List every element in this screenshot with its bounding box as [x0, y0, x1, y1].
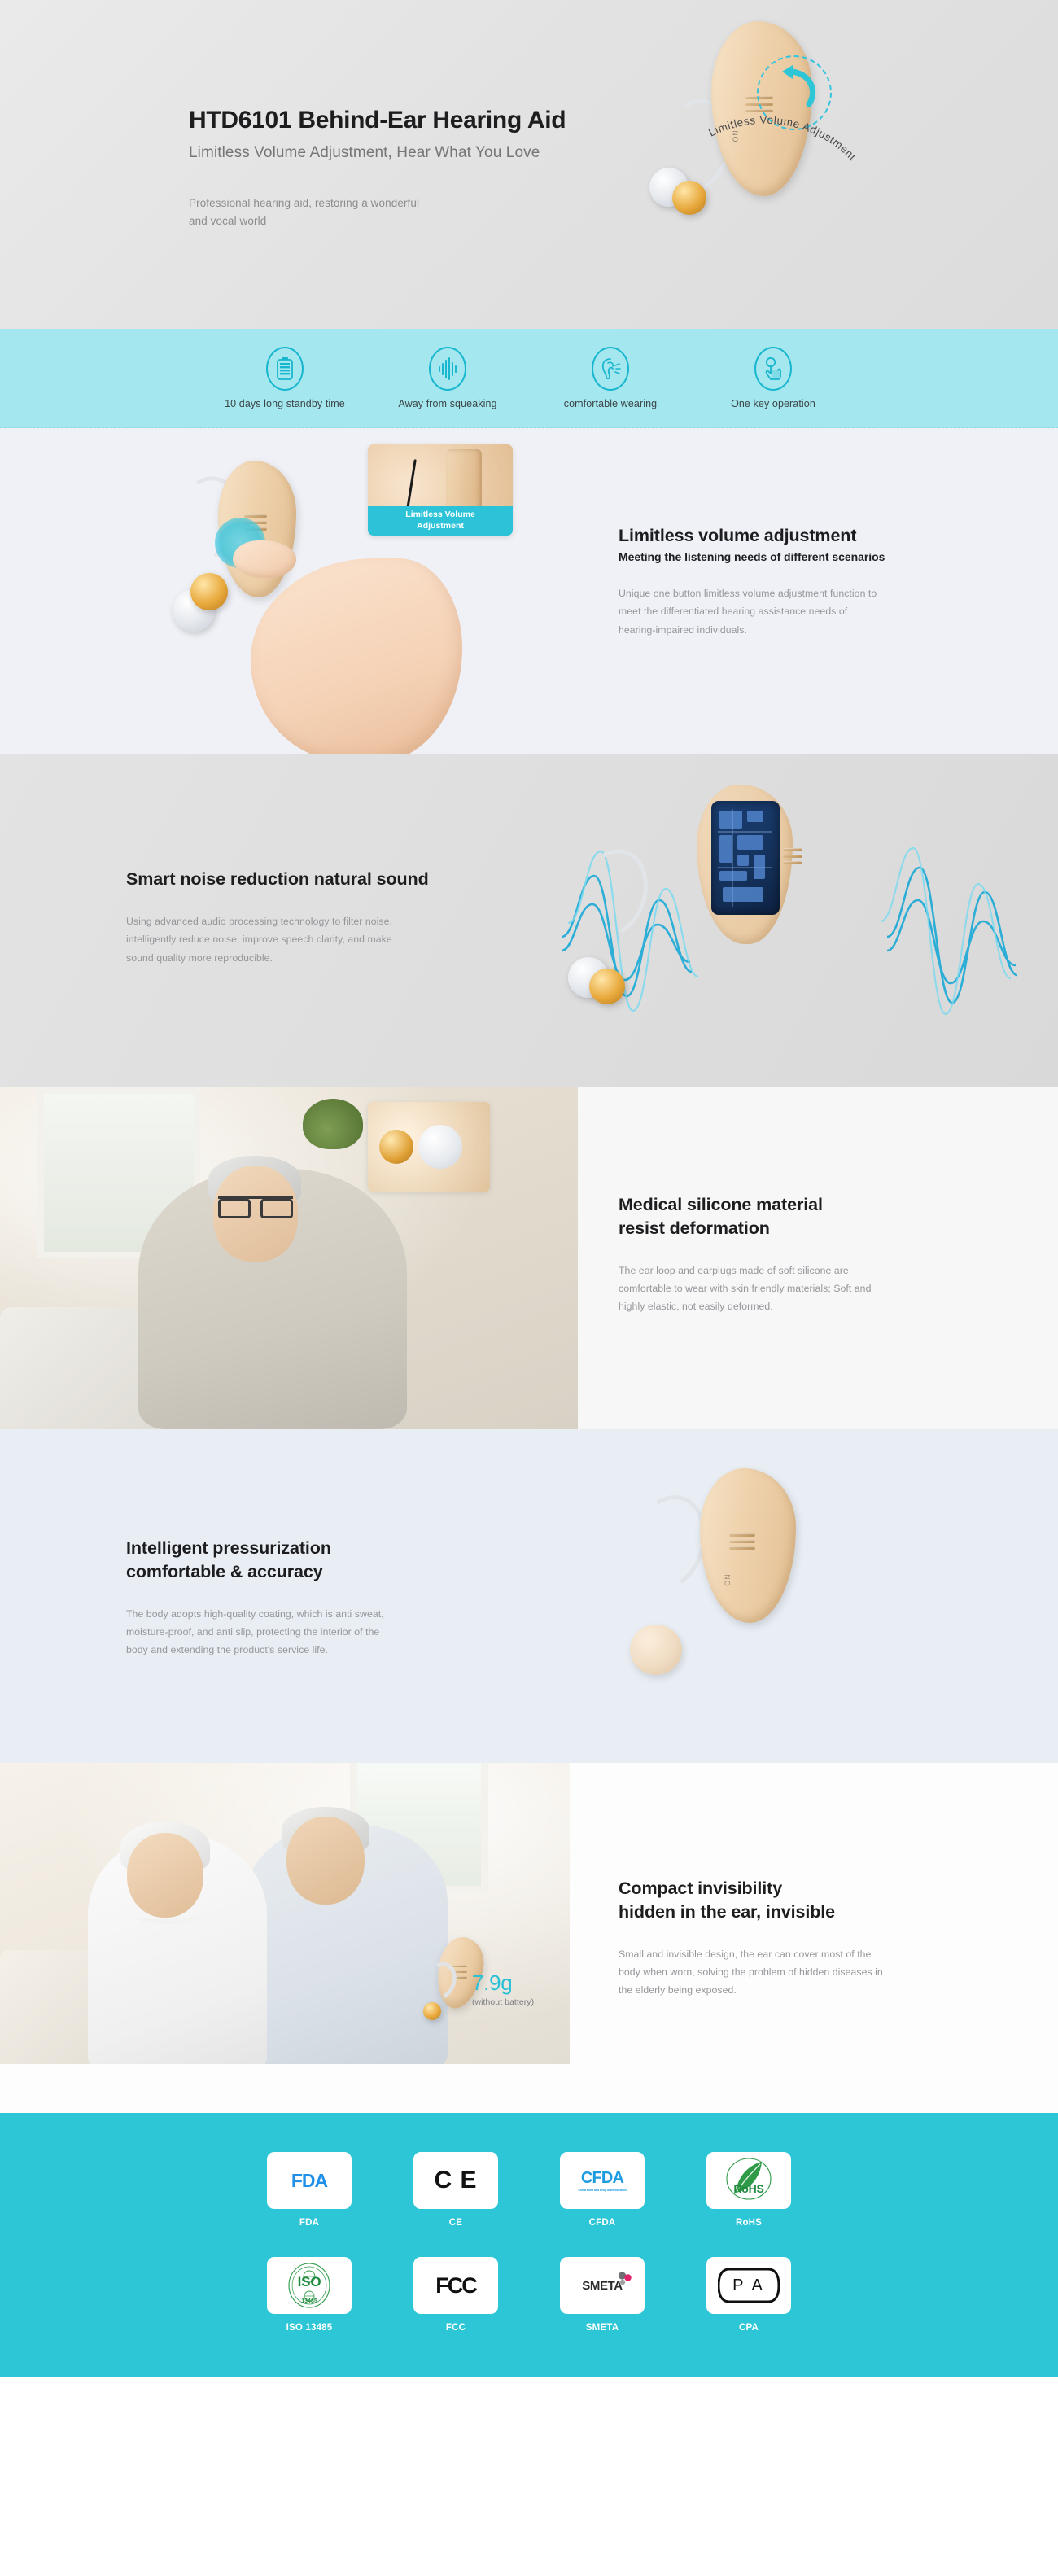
- certification-row-2: ISO 13485 ISO 13485 FCC FCC SMETA: [0, 2257, 1058, 2333]
- feature-item-one-key[interactable]: One key operation: [692, 347, 855, 409]
- weight-value: 7.9g: [472, 1970, 610, 1996]
- dial-curved-label-text: Limitless Volume Adjustment: [706, 114, 859, 163]
- cert-caption: CPA: [739, 2323, 759, 2333]
- cert-logo-box: CFDA China Food and Drug Administration: [560, 2152, 645, 2209]
- gold-earpiece-icon: [589, 969, 625, 1004]
- section1-heading: Limitless volume adjustment: [619, 524, 1058, 548]
- feature-strip: 10 days long standby time Away from sque…: [0, 329, 1058, 428]
- section2-illustration: [562, 770, 1017, 1071]
- section1-body: Unique one button limitless volume adjus…: [619, 584, 887, 639]
- plant-decor: [303, 1099, 363, 1149]
- certification-cfda[interactable]: CFDA China Food and Drug Administration …: [560, 2152, 645, 2228]
- cert-logo-box: C E: [413, 2152, 498, 2209]
- section1-copy: Limitless volume adjustment Meeting the …: [619, 524, 1058, 639]
- section4-heading-line-2: comfortable & accuracy: [126, 1560, 582, 1584]
- circuit-traces-icon: [715, 804, 778, 912]
- fcc-logo-icon: FCC: [435, 2273, 476, 2298]
- gold-earpiece-icon: [423, 2002, 441, 2020]
- cert-caption: CFDA: [589, 2218, 616, 2228]
- cpa-logo-text: P A: [732, 2276, 765, 2295]
- certification-smeta[interactable]: SMETA SMETA: [560, 2257, 645, 2333]
- section-noise-reduction: Smart noise reduction natural sound Usin…: [0, 754, 1058, 1087]
- certification-fda[interactable]: FDA FDA: [267, 2152, 352, 2228]
- woman-head-shape: [127, 1833, 203, 1918]
- section5-photo: [0, 1763, 570, 2064]
- feature-item-standby[interactable]: 10 days long standby time: [203, 347, 366, 409]
- section4-heading: Intelligent pressurization comfortable &…: [126, 1537, 582, 1584]
- inset-badge: Limitless Volume Adjustment: [368, 506, 513, 536]
- section-compact-invisibility: 7.9g (without battery) Compact invisibil…: [0, 1763, 1058, 2113]
- pearl-necklace-decor: [137, 1911, 195, 1924]
- section4-body: The body adopts high-quality coating, wh…: [126, 1605, 395, 1660]
- gold-earpiece-icon: [672, 181, 706, 215]
- feature-label: comfortable wearing: [564, 398, 657, 409]
- cpa-logo-icon: P A: [718, 2268, 780, 2303]
- hero-description: Professional hearing aid, restoring a wo…: [189, 195, 612, 231]
- section2-body: Using advanced audio processing technolo…: [126, 912, 395, 967]
- section1-subheading: Meeting the listening needs of different…: [619, 550, 1058, 563]
- ear-icon: [592, 347, 629, 391]
- gold-earpiece-icon: [379, 1130, 413, 1164]
- section5-copy: Compact invisibility hidden in the ear, …: [619, 1877, 1058, 2000]
- feature-item-comfort[interactable]: comfortable wearing: [529, 347, 692, 409]
- section3-heading: Medical silicone material resist deforma…: [619, 1193, 1058, 1240]
- section5-heading: Compact invisibility hidden in the ear, …: [619, 1877, 1058, 1924]
- cert-logo-box: SMETA: [560, 2257, 645, 2314]
- cfda-logo-text: CFDA: [578, 2169, 626, 2188]
- section5-heading-line-2: hidden in the ear, invisible: [619, 1900, 1058, 1924]
- section3-photo: [0, 1087, 578, 1429]
- certification-rohs[interactable]: RoHS RoHS: [706, 2152, 791, 2228]
- inset-callout-card: Limitless Volume Adjustment: [368, 444, 513, 536]
- dial-curved-label: Limitless Volume Adjustment: [702, 16, 889, 179]
- hero-section: HTD6101 Behind-Ear Hearing Aid Limitless…: [0, 0, 1058, 329]
- rohs-logo-icon: RoHS: [724, 2157, 773, 2204]
- finger-illustration: [233, 540, 296, 578]
- section4-heading-line-1: Intelligent pressurization: [126, 1537, 582, 1560]
- silicone-earplug-icon: [418, 1125, 462, 1169]
- hero-description-line-2: and vocal world: [189, 212, 612, 230]
- section4-copy: Intelligent pressurization comfortable &…: [126, 1537, 582, 1660]
- feature-label: Away from squeaking: [398, 398, 496, 409]
- cert-logo-box: ISO 13485: [267, 2257, 352, 2314]
- section5-heading-line-1: Compact invisibility: [619, 1877, 1058, 1900]
- section-intelligent-pressurization: Intelligent pressurization comfortable &…: [0, 1429, 1058, 1763]
- feature-label: 10 days long standby time: [225, 398, 345, 409]
- cert-logo-box: P A: [706, 2257, 791, 2314]
- weight-note: (without battery): [472, 1997, 610, 2007]
- cert-logo-box: RoHS: [706, 2152, 791, 2209]
- certification-cpa[interactable]: P A CPA: [706, 2257, 791, 2333]
- iso-logo-icon: ISO 13485: [286, 2262, 333, 2309]
- product-detail-page: HTD6101 Behind-Ear Hearing Aid Limitless…: [0, 0, 1058, 2377]
- rohs-logo-text: RoHS: [733, 2182, 763, 2195]
- section-limitless-volume: Limitless Volume Adjustment Limitless vo…: [0, 428, 1058, 754]
- svg-text:Limitless Volume Adjustment: Limitless Volume Adjustment: [706, 114, 859, 163]
- certification-ce[interactable]: C E CE: [413, 2152, 498, 2228]
- iso-logo-subtext: 13485: [301, 2298, 317, 2304]
- gold-earpiece-icon: [190, 573, 228, 610]
- silicone-inset-photo: [368, 1102, 490, 1192]
- section4-illustration: ON: [619, 1452, 960, 1745]
- touch-finger-icon: [754, 347, 792, 391]
- certifications-section: FDA FDA C E CE CFDA China Food and Drug …: [0, 2113, 1058, 2377]
- cfda-logo-subtext: China Food and Drug Administration: [578, 2189, 626, 2192]
- iso-logo-text: ISO: [298, 2274, 321, 2290]
- section1-illustration: Limitless Volume Adjustment: [155, 444, 505, 754]
- hand-illustration: [251, 558, 462, 754]
- inset-badge-line-2: Adjustment: [368, 520, 513, 531]
- cfda-logo-icon: CFDA China Food and Drug Administration: [578, 2169, 626, 2192]
- section3-heading-line-2: resist deformation: [619, 1217, 1058, 1240]
- cert-caption: FDA: [299, 2218, 319, 2228]
- smeta-logo-icon: SMETA: [582, 2279, 622, 2293]
- cert-caption: SMETA: [586, 2323, 619, 2333]
- power-on-label: ON: [731, 130, 739, 142]
- glasses-icon: [218, 1196, 293, 1211]
- weight-callout: 7.9g (without battery): [472, 1970, 610, 2007]
- cert-caption: CE: [449, 2218, 462, 2228]
- section2-heading: Smart noise reduction natural sound: [126, 868, 582, 891]
- certification-fcc[interactable]: FCC FCC: [413, 2257, 498, 2333]
- feature-item-no-squeak[interactable]: Away from squeaking: [366, 347, 529, 409]
- ce-logo-icon: C E: [434, 2167, 477, 2194]
- section3-heading-line-1: Medical silicone material: [619, 1193, 1058, 1217]
- hero-product-illustration: Limitless Volume Adjustment ON: [627, 8, 952, 326]
- hero-description-line-1: Professional hearing aid, restoring a wo…: [189, 195, 612, 212]
- section5-body: Small and invisible design, the ear can …: [619, 1945, 887, 2000]
- cert-logo-box: FCC: [413, 2257, 498, 2314]
- power-on-label: ON: [724, 1573, 732, 1586]
- volume-slots-icon: [783, 848, 802, 868]
- cert-caption: RoHS: [736, 2218, 762, 2228]
- certification-row-1: FDA FDA C E CE CFDA China Food and Drug …: [0, 2152, 1058, 2228]
- cert-caption: ISO 13485: [286, 2323, 333, 2333]
- man-head-shape: [286, 1817, 365, 1905]
- section3-body: The ear loop and earplugs made of soft s…: [619, 1262, 887, 1316]
- feature-label: One key operation: [731, 398, 815, 409]
- cert-caption: FCC: [446, 2323, 466, 2333]
- section-medical-silicone: Medical silicone material resist deforma…: [0, 1087, 1058, 1429]
- sound-wave-icon: [429, 347, 466, 391]
- certification-iso[interactable]: ISO 13485 ISO 13485: [267, 2257, 352, 2333]
- fda-logo-icon: FDA: [291, 2170, 327, 2192]
- inset-badge-line-1: Limitless Volume: [368, 509, 513, 520]
- section2-copy: Smart noise reduction natural sound Usin…: [126, 868, 582, 967]
- earplug-icon: [630, 1625, 682, 1675]
- volume-slots-icon: [729, 1533, 755, 1553]
- section3-copy: Medical silicone material resist deforma…: [619, 1193, 1058, 1316]
- hero-subtitle: Limitless Volume Adjustment, Hear What Y…: [189, 144, 612, 162]
- cert-logo-box: FDA: [267, 2152, 352, 2209]
- battery-icon: [266, 347, 304, 391]
- hero-text-block: HTD6101 Behind-Ear Hearing Aid Limitless…: [189, 106, 612, 231]
- page-title: HTD6101 Behind-Ear Hearing Aid: [189, 106, 612, 135]
